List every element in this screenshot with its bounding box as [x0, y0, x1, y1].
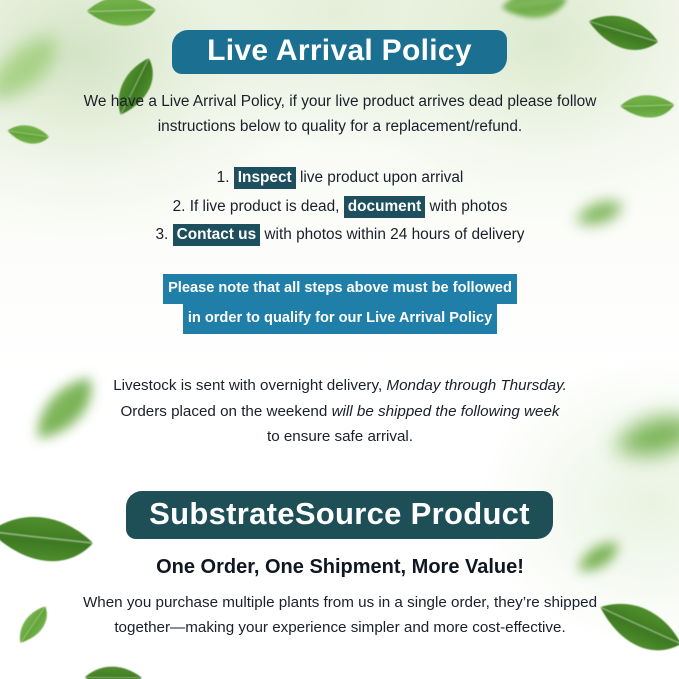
- step-text-before: If live product is dead,: [190, 198, 340, 215]
- step-text-after: live product upon arrival: [300, 169, 463, 186]
- shipping-line-1: Livestock is sent with overnight deliver…: [70, 373, 610, 399]
- shipping-line-1-emphasis: Monday through Thursday.: [386, 377, 566, 394]
- substratesource-product-banner-label: SubstrateSource Product: [149, 496, 530, 532]
- intro-paragraph: We have a Live Arrival Policy, if your l…: [70, 90, 610, 140]
- product-body-line-2: together—making your experience simpler …: [70, 616, 610, 641]
- step-highlight: Inspect: [234, 167, 296, 189]
- product-paragraph: When you purchase multiple plants from u…: [70, 591, 610, 640]
- policy-note-row-2: in order to qualify for our Live Arrival…: [70, 304, 610, 334]
- promo-graphic: Live Arrival Policy We have a Live Arriv…: [0, 0, 679, 679]
- step-highlight: document: [344, 196, 426, 218]
- product-body-line-1: When you purchase multiple plants from u…: [70, 591, 610, 616]
- list-item: 1. Inspect live product upon arrival: [70, 164, 610, 193]
- step-number: 3.: [155, 226, 168, 243]
- shipping-paragraph: Livestock is sent with overnight deliver…: [70, 373, 610, 450]
- step-number: 1.: [217, 169, 230, 186]
- intro-line-1: We have a Live Arrival Policy, if your l…: [70, 90, 610, 115]
- policy-note-block: Please note that all steps above must be…: [70, 274, 610, 334]
- product-subheadline: One Order, One Shipment, More Value!: [70, 556, 610, 579]
- step-number: 2.: [173, 198, 186, 215]
- policy-note-line-1: Please note that all steps above must be…: [163, 274, 517, 304]
- steps-list: 1. Inspect live product upon arrival 2. …: [70, 164, 610, 250]
- live-arrival-policy-banner-label: Live Arrival Policy: [207, 34, 472, 68]
- substratesource-product-banner: SubstrateSource Product: [126, 491, 553, 539]
- step-text-after: with photos within 24 hours of delivery: [264, 226, 524, 243]
- live-arrival-policy-banner: Live Arrival Policy: [172, 30, 507, 74]
- shipping-line-1-plain: Livestock is sent with overnight deliver…: [113, 377, 382, 394]
- step-text-after: with photos: [430, 198, 508, 215]
- shipping-line-3: to ensure safe arrival.: [70, 424, 610, 450]
- shipping-line-2: Orders placed on the weekend will be shi…: [70, 399, 610, 425]
- shipping-line-2-plain: Orders placed on the weekend: [120, 403, 327, 420]
- content-layer: Live Arrival Policy We have a Live Arriv…: [0, 0, 679, 679]
- list-item: 3. Contact us with photos within 24 hour…: [70, 221, 610, 250]
- policy-note-row-1: Please note that all steps above must be…: [70, 274, 610, 304]
- intro-line-1-rest: , if your live product arrives dead plea…: [281, 93, 597, 110]
- intro-line-2: instructions below to quality for a repl…: [70, 115, 610, 140]
- step-highlight: Contact us: [173, 224, 261, 246]
- policy-note-line-2: in order to qualify for our Live Arrival…: [183, 304, 497, 334]
- shipping-line-2-emphasis: will be shipped the following week: [332, 403, 560, 420]
- list-item: 2. If live product is dead, document wit…: [70, 193, 610, 222]
- intro-lead-phrase: We have a Live Arrival Policy: [84, 93, 281, 110]
